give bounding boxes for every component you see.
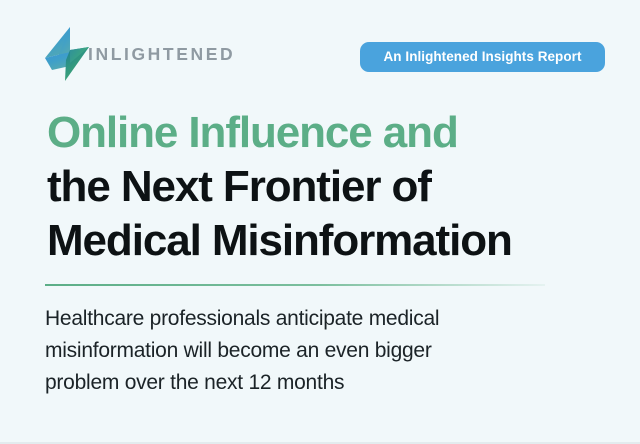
report-type-badge: An Inlightened Insights Report — [360, 42, 605, 72]
page-title-line-1: Online Influence and — [47, 106, 607, 160]
page-subtitle-line-3: problem over the next 12 months — [45, 367, 545, 399]
report-type-badge-label: An Inlightened Insights Report — [384, 50, 582, 64]
page-subtitle: Healthcare professionals anticipate medi… — [45, 303, 545, 399]
page-title: Online Influence and the Next Frontier o… — [47, 106, 607, 268]
title-divider — [45, 284, 545, 286]
report-cover: INLIGHTENED An Inlightened Insights Repo… — [0, 0, 640, 444]
lightning-bolt-logo-icon — [44, 26, 90, 82]
header-row: INLIGHTENED An Inlightened Insights Repo… — [0, 0, 640, 100]
brand-lockup[interactable]: INLIGHTENED — [44, 26, 235, 82]
page-title-line-2: the Next Frontier of — [47, 160, 607, 214]
brand-wordmark: INLIGHTENED — [88, 44, 235, 64]
page-subtitle-line-2: misinformation will become an even bigge… — [45, 335, 545, 367]
page-subtitle-line-1: Healthcare professionals anticipate medi… — [45, 303, 545, 335]
page-title-line-3: Medical Misinformation — [47, 214, 607, 268]
